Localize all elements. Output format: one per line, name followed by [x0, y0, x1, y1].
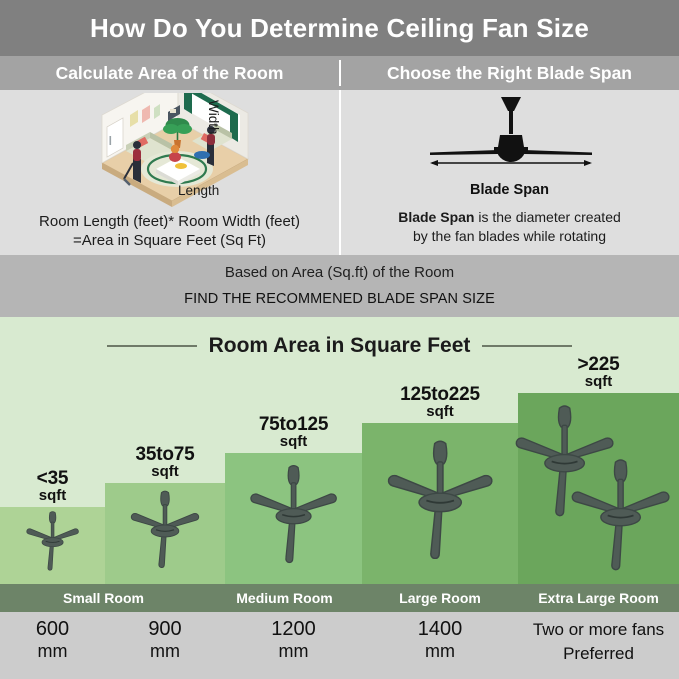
label-width: Width: [206, 100, 221, 135]
blade-size-unit-4: mm: [362, 640, 518, 662]
page-title: How Do You Determine Ceiling Fan Size: [90, 13, 589, 44]
ceiling-fan-icon-2: [129, 489, 201, 573]
label-blade-span: Blade Span: [340, 182, 679, 198]
ceiling-fan-icon-3: [248, 463, 339, 568]
blade-size-3: 1200mm: [225, 618, 362, 662]
label-length: Length: [178, 183, 219, 198]
room-type-strip: Small RoomMedium RoomLarge RoomExtra Lar…: [0, 584, 679, 612]
fan-glyph: [25, 510, 80, 571]
formula-line-2: =Area in Square Feet (Sq Ft): [0, 231, 339, 250]
fan-glyph: [569, 457, 672, 571]
room-type-1: Small Room: [0, 584, 207, 612]
bar-unit-4: sqft: [362, 404, 518, 420]
bar-unit-1: sqft: [0, 488, 105, 504]
blade-size-unit-2: mm: [105, 640, 225, 662]
blade-size-4: 1400mm: [362, 618, 518, 662]
page-header: How Do You Determine Ceiling Fan Size: [0, 0, 679, 56]
blade-size-extra-note: Two or more fansPreferred: [518, 618, 679, 666]
fan-glyph: [385, 438, 495, 559]
room-area-bar-chart: Room Area in Square Feet <35sqft35to75sq…: [0, 317, 679, 584]
blade-desc-rest: is the diameter created: [474, 209, 620, 225]
bar-range-3: 75to125: [225, 415, 362, 435]
chart-bars-layer: <35sqft35to75sqft75to125sqft125to225sqft…: [0, 317, 679, 584]
blade-span-description: Blade Span is the diameter created by th…: [340, 208, 679, 246]
bar-range-2: 35to75: [105, 445, 225, 465]
room-type-3: Large Room: [362, 584, 518, 612]
section-subheader-bar: Calculate Area of the Room Choose the Ri…: [0, 56, 679, 90]
ceiling-fan-icon-1: [25, 510, 80, 576]
chart-bar-label-3: 75to125sqft: [225, 415, 362, 450]
panel-blade-span: Blade Span Blade Span is the diameter cr…: [340, 90, 679, 255]
bar-unit-2: sqft: [105, 464, 225, 480]
blade-desc-line-1: Blade Span is the diameter created: [340, 208, 679, 227]
room-type-4: Extra Large Room: [518, 584, 679, 612]
blade-size-unit-3: mm: [225, 640, 362, 662]
chart-bar-label-5: >225sqft: [518, 355, 679, 390]
blade-size-value-4: 1400: [362, 618, 518, 640]
formula-line-1: Room Length (feet)* Room Width (feet): [0, 212, 339, 231]
extra-note-line-1: Two or more fans: [518, 618, 679, 642]
bar-unit-5: sqft: [518, 374, 679, 390]
isometric-room-icon: [80, 93, 265, 211]
blade-size-strip: 600mm900mm1200mm1400mmTwo or more fansPr…: [0, 612, 679, 679]
chart-bar-label-4: 125to225sqft: [362, 385, 518, 420]
bar-range-1: <35: [0, 469, 105, 489]
ceiling-fan-silhouette-icon: [418, 95, 603, 187]
blade-size-2: 900mm: [105, 618, 225, 662]
blade-size-value-3: 1200: [225, 618, 362, 640]
blade-size-1: 600mm: [0, 618, 105, 662]
bar-unit-3: sqft: [225, 434, 362, 450]
infographic-page: How Do You Determine Ceiling Fan Size Ca…: [0, 0, 679, 679]
ceiling-fan-icon-5-2: [569, 457, 672, 576]
instruction-line-2: FIND THE RECOMMENED BLADE SPAN SIZE: [0, 291, 679, 307]
room-type-2: Medium Room: [207, 584, 362, 612]
bar-range-5: >225: [518, 355, 679, 375]
fan-glyph: [248, 463, 339, 563]
blade-size-value-2: 900: [105, 618, 225, 640]
area-formula: Room Length (feet)* Room Width (feet) =A…: [0, 212, 339, 250]
extra-note-line-2: Preferred: [518, 642, 679, 666]
instruction-line-1: Based on Area (Sq.ft) of the Room: [0, 264, 679, 281]
blade-desc-line-2: by the fan blades while rotating: [340, 227, 679, 246]
bar-range-4: 125to225: [362, 385, 518, 405]
ceiling-fan-icon-4: [385, 438, 495, 564]
blade-desc-bold: Blade Span: [398, 209, 474, 225]
fan-glyph: [129, 489, 201, 568]
info-panels: Length Width Room Length (feet)* Room Wi…: [0, 90, 679, 255]
chart-bar-label-2: 35to75sqft: [105, 445, 225, 480]
chart-bar-label-1: <35sqft: [0, 469, 105, 504]
instruction-band: Based on Area (Sq.ft) of the Room FIND T…: [0, 255, 679, 317]
blade-size-value-1: 600: [0, 618, 105, 640]
panel-calculate-area: Length Width Room Length (feet)* Room Wi…: [0, 90, 339, 255]
subheader-calculate-area: Calculate Area of the Room: [0, 56, 339, 90]
subheader-blade-span: Choose the Right Blade Span: [340, 56, 679, 90]
blade-size-unit-1: mm: [0, 640, 105, 662]
